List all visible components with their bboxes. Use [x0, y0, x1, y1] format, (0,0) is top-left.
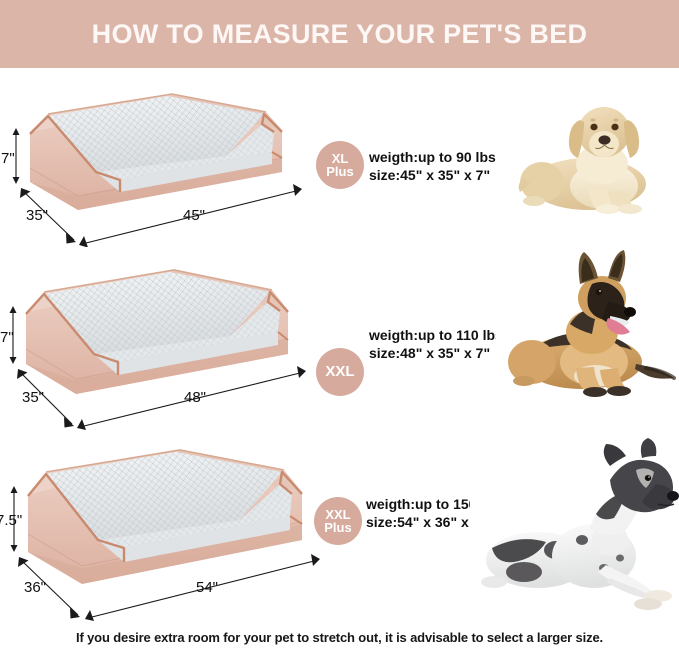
size-badge-xxl-plus: XXL Plus: [314, 497, 362, 545]
size-row-xxl: 7" 35" 48" XXL weigth:up to 110 lbs size…: [0, 250, 679, 430]
dimension-height-label: 7.5": [0, 512, 22, 529]
bed-diagram-xl-plus: 7" 35" 45": [0, 72, 312, 247]
badge-line-2: Plus: [324, 521, 351, 534]
badge-line-2: Plus: [326, 165, 353, 178]
bed-diagram-xxl-plus: 7.5" 36" 54": [0, 432, 312, 622]
dimension-width-label: 48": [184, 389, 206, 406]
dimension-width-label: 54": [196, 579, 218, 596]
badge-line-1: XXL: [325, 364, 354, 379]
size-badge-xl-plus: XL Plus: [316, 141, 364, 189]
badge-line-1: XXL: [325, 508, 350, 521]
bed-diagram-xxl: 7" 35" 48": [0, 250, 312, 430]
spec-text-xxl: weigth:up to 110 lbs size:48" x 35" x 7": [369, 326, 503, 363]
header-banner: HOW TO MEASURE YOUR PET'S BED: [0, 0, 679, 68]
spec-weight: weigth:up to 90 lbs: [369, 148, 496, 166]
dog-photo-german-shepherd: [496, 246, 678, 406]
badge-line-1: XL: [332, 152, 349, 165]
spec-size: size:45" x 35" x 7": [369, 166, 496, 184]
size-badge-xxl: XXL: [316, 348, 364, 396]
dimension-height-label: 7": [0, 329, 14, 346]
dimension-depth-label: 36": [24, 579, 46, 596]
footer-note: If you desire extra room for your pet to…: [0, 630, 679, 645]
dog-photo-golden-retriever: [516, 82, 676, 222]
size-row-xxl-plus: 7.5" 36" 54" XXL Plus weigth:up to 150lb…: [0, 432, 679, 622]
dimension-depth-label: 35": [22, 389, 44, 406]
page-title: HOW TO MEASURE YOUR PET'S BED: [92, 19, 588, 50]
spec-weight: weigth:up to 110 lbs: [369, 326, 503, 344]
spec-size: size:48" x 35" x 7": [369, 344, 503, 362]
dimension-depth-label: 35": [26, 207, 48, 224]
size-row-xl-plus: 7" 35" 45" XL Plus weigth:up to 90 lbs s…: [0, 72, 679, 247]
dimension-width-label: 45": [183, 207, 205, 224]
spec-text-xl-plus: weigth:up to 90 lbs size:45" x 35" x 7": [369, 148, 496, 185]
dimension-height-label: 7": [1, 150, 15, 167]
dog-photo-great-dane: [470, 432, 679, 617]
